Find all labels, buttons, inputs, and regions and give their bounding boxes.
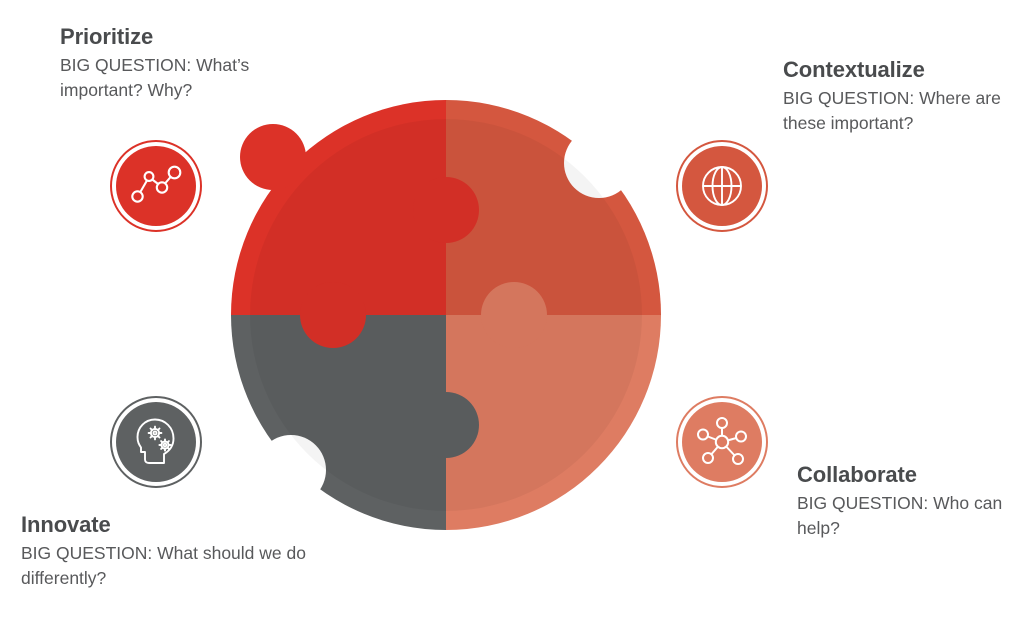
label-title-collaborate: Collaborate bbox=[797, 462, 1022, 488]
label-title-prioritize: Prioritize bbox=[60, 24, 320, 50]
network-hub-icon bbox=[682, 402, 762, 482]
label-contextualize: Contextualize BIG QUESTION: Where are th… bbox=[783, 57, 1024, 136]
badge-innovate[interactable] bbox=[110, 396, 202, 488]
globe-icon bbox=[682, 146, 762, 226]
label-question-innovate: BIG QUESTION: What should we do differen… bbox=[21, 541, 311, 591]
label-prioritize: Prioritize BIG QUESTION: What’s importan… bbox=[60, 24, 320, 103]
badge-contextualize[interactable] bbox=[676, 140, 768, 232]
label-question-prioritize: BIG QUESTION: What’s important? Why? bbox=[60, 53, 320, 103]
line-chart-icon bbox=[116, 146, 196, 226]
label-innovate: Innovate BIG QUESTION: What should we do… bbox=[21, 512, 311, 591]
label-question-contextualize: BIG QUESTION: Where are these important? bbox=[783, 86, 1024, 136]
inner-shade-ring bbox=[250, 119, 642, 511]
label-title-contextualize: Contextualize bbox=[783, 57, 1024, 83]
label-collaborate: Collaborate BIG QUESTION: Who can help? bbox=[797, 462, 1022, 541]
badge-collaborate[interactable] bbox=[676, 396, 768, 488]
head-gears-icon bbox=[116, 402, 196, 482]
jigsaw-circle-graphic bbox=[216, 85, 676, 545]
label-title-innovate: Innovate bbox=[21, 512, 311, 538]
label-question-collaborate: BIG QUESTION: Who can help? bbox=[797, 491, 1022, 541]
diagram-canvas: Prioritize BIG QUESTION: What’s importan… bbox=[0, 0, 1024, 618]
badge-prioritize[interactable] bbox=[110, 140, 202, 232]
